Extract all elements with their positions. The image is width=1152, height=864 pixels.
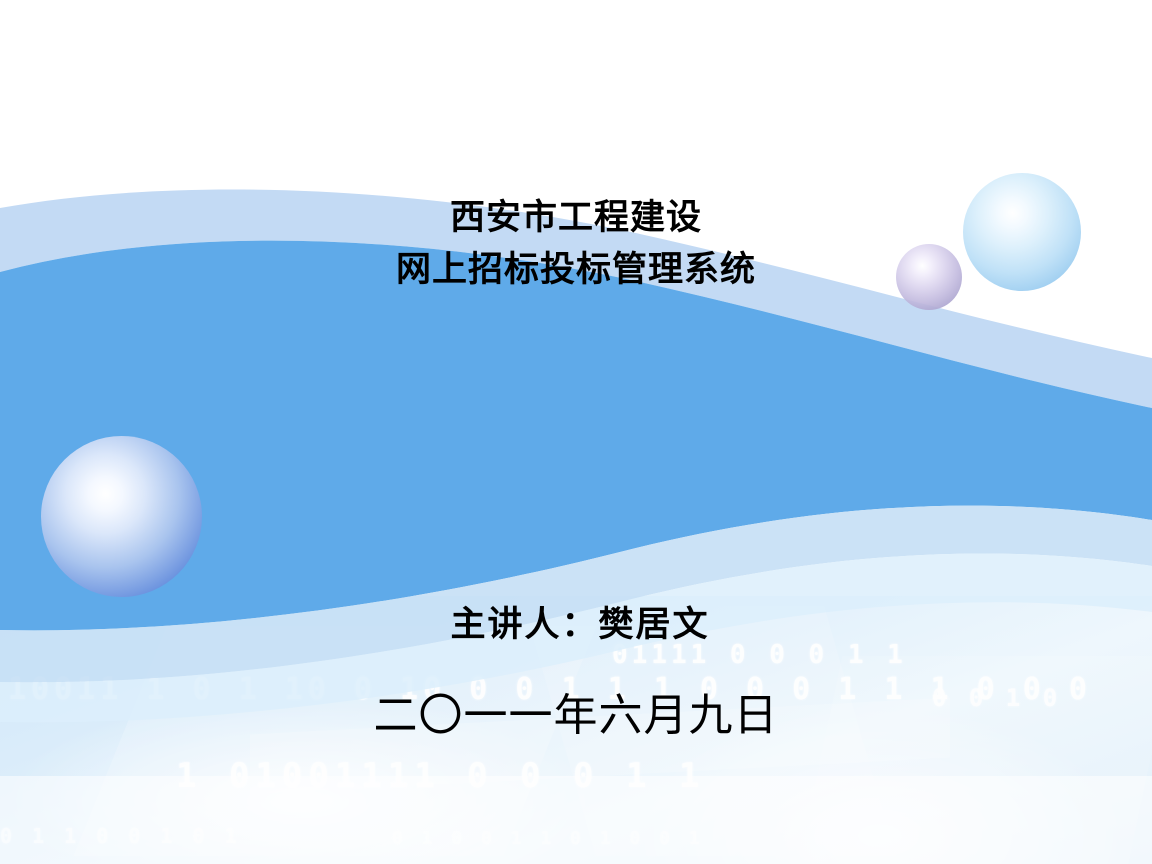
slide-title-line-1: 西安市工程建设: [0, 192, 1152, 244]
slide-title: 西安市工程建设 网上招标投标管理系统: [0, 192, 1152, 296]
presentation-slide: 10011 1 0 1 10 0 10 0 0 1 1 1 0 0 0 1 1 …: [0, 0, 1152, 864]
date-label: 二〇一一年六月九日: [0, 679, 1152, 743]
sphere-bottom-blue-icon: [41, 436, 202, 597]
presenter-label: 主讲人：樊居文: [0, 596, 1152, 647]
slide-title-line-2: 网上招标投标管理系统: [0, 244, 1152, 296]
